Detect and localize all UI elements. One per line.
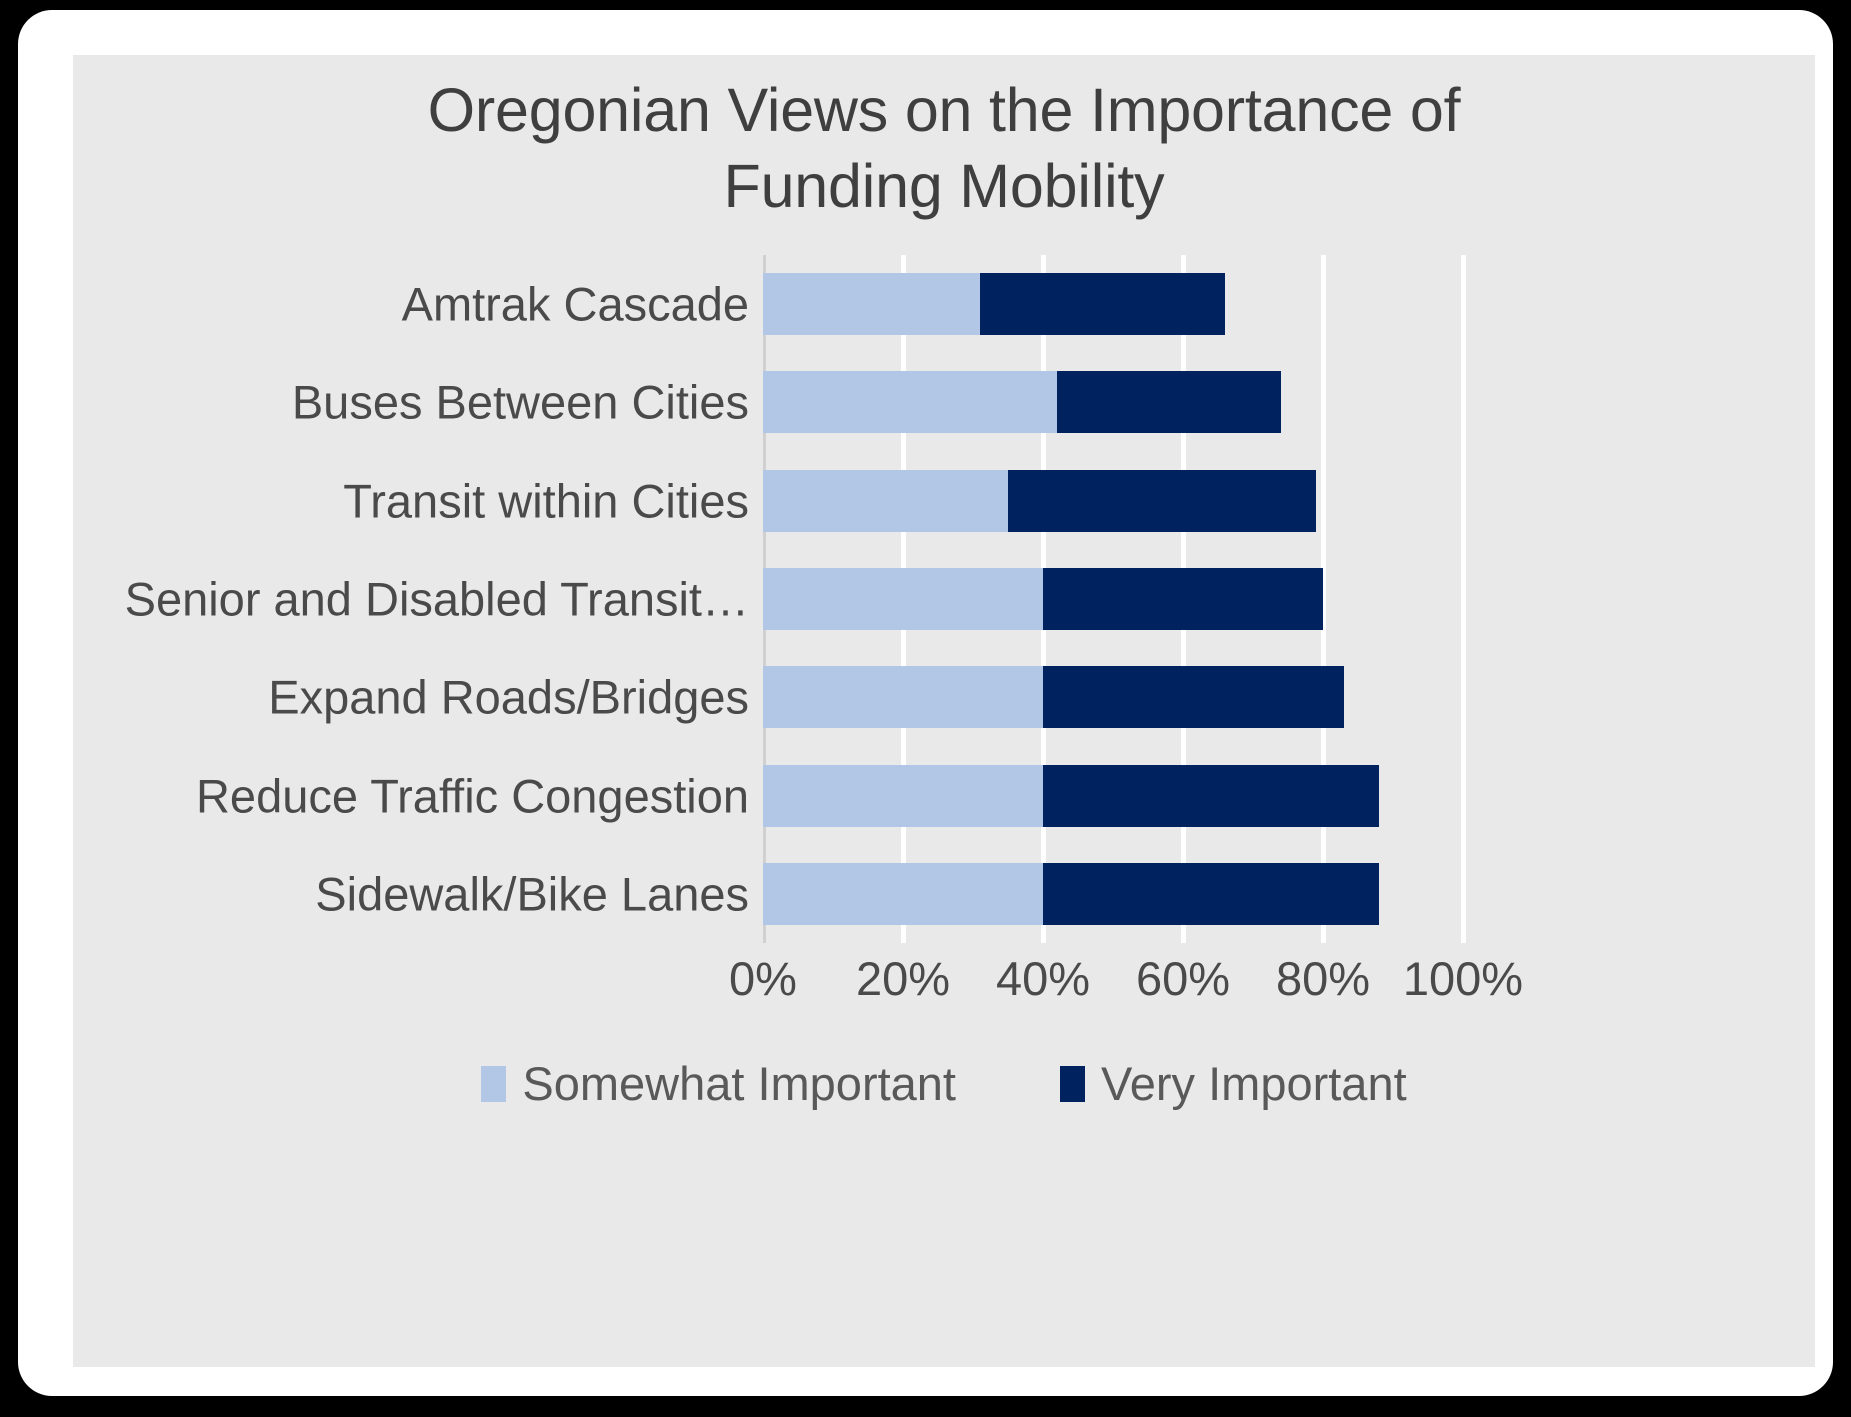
bar-segment-very-important [1043,666,1344,728]
x-tick-label: 80% [1276,955,1370,1002]
bar-segment-very-important [1043,765,1379,827]
category-label: Reduce Traffic Congestion [196,772,749,819]
bar-row [763,666,1344,728]
x-tick-label: 0% [729,955,797,1002]
screenshot-page: Oregonian Views on the Importance of Fun… [0,0,1851,1417]
gridline [1461,255,1466,943]
category-label: Senior and Disabled Transit… [125,576,749,623]
chart-title-line-2: Funding Mobility [73,149,1815,225]
bar-segment-very-important [1057,371,1281,433]
legend-label: Very Important [1101,1060,1407,1107]
chart-title: Oregonian Views on the Importance of Fun… [73,73,1815,224]
bar-segment-somewhat-important [763,371,1057,433]
x-tick-label: 20% [856,955,950,1002]
bar-segment-very-important [980,273,1225,335]
category-label: Sidewalk/Bike Lanes [315,870,749,917]
category-label: Expand Roads/Bridges [268,674,749,721]
bars-canvas [763,255,1463,943]
legend-item[interactable]: Somewhat Important [481,1060,956,1107]
chart-title-line-1: Oregonian Views on the Importance of [73,73,1815,149]
bar-row [763,863,1379,925]
bar-segment-very-important [1043,863,1379,925]
bar-row [763,568,1323,630]
y-axis-category-labels: Amtrak CascadeBuses Between CitiesTransi… [73,255,763,943]
bar-segment-somewhat-important [763,273,980,335]
bar-segment-somewhat-important [763,666,1043,728]
bar-segment-very-important [1008,470,1316,532]
bar-segment-somewhat-important [763,863,1043,925]
x-tick-label: 100% [1403,955,1523,1002]
bar-segment-somewhat-important [763,568,1043,630]
category-label: Transit within Cities [343,477,749,524]
bar-row [763,470,1316,532]
plot-area: Amtrak CascadeBuses Between CitiesTransi… [73,255,1815,943]
legend-label: Somewhat Important [522,1060,956,1107]
bar-row [763,765,1379,827]
bar-segment-very-important [1043,568,1323,630]
bar-segment-somewhat-important [763,765,1043,827]
legend-item[interactable]: Very Important [1060,1060,1407,1107]
legend-swatch-icon [481,1066,506,1102]
chart-card: Oregonian Views on the Importance of Fun… [73,55,1815,1367]
x-tick-label: 40% [996,955,1090,1002]
category-label: Buses Between Cities [292,379,749,426]
chart-legend: Somewhat ImportantVery Important [73,1060,1815,1107]
bar-row [763,273,1225,335]
x-tick-label: 60% [1136,955,1230,1002]
slide-frame: Oregonian Views on the Importance of Fun… [18,10,1833,1396]
x-axis-tick-labels: 0%20%40%60%80%100% [763,955,1463,1025]
bar-row [763,371,1281,433]
bar-segment-somewhat-important [763,470,1008,532]
legend-swatch-icon [1060,1066,1085,1102]
category-label: Amtrak Cascade [402,281,749,328]
